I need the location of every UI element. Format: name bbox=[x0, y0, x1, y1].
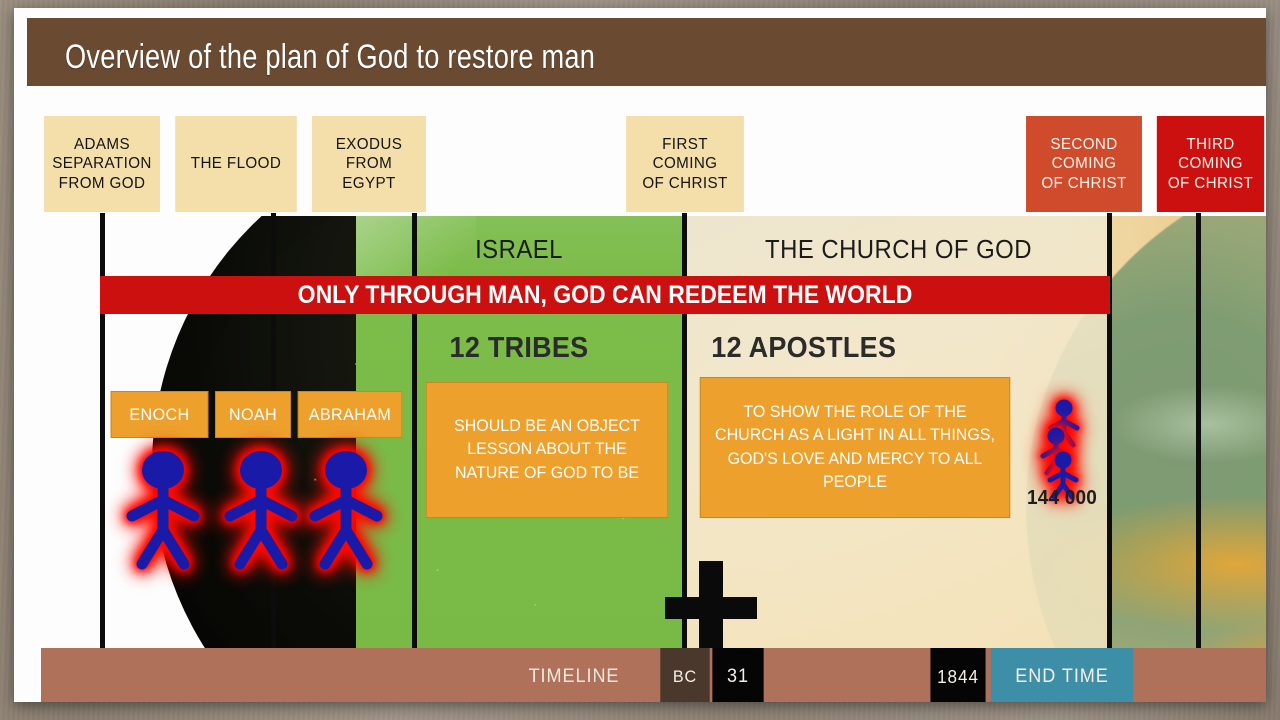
slide-canvas: Overview of the plan of God to restore m… bbox=[14, 8, 1266, 702]
era-header-israel: ISRAEL bbox=[369, 234, 669, 265]
event-sign-exodus-from-egypt[interactable]: EXODUS FROM EGYPT bbox=[312, 116, 426, 212]
slide-left-whitespace bbox=[14, 86, 44, 702]
sign-line: FROM bbox=[346, 154, 392, 173]
event-sign-second-coming[interactable]: SECOND COMING OF CHRIST bbox=[1026, 116, 1142, 212]
sign-line: THE FLOOD bbox=[191, 154, 281, 173]
sign-line: SECOND bbox=[1050, 135, 1117, 154]
sign-line: OF CHRIST bbox=[1041, 174, 1126, 193]
stick-figure-icon bbox=[220, 448, 302, 570]
sign-line: COMING bbox=[1052, 154, 1117, 173]
sign-line: OF CHRIST bbox=[642, 174, 727, 193]
sign-line: COMING bbox=[1178, 154, 1243, 173]
era-subtitle-12-apostles: 12 APOSTLES bbox=[711, 332, 1064, 365]
sign-line: EXODUS bbox=[336, 135, 402, 154]
page-title: Overview of the plan of God to restore m… bbox=[65, 38, 595, 77]
event-sign-adams-separation[interactable]: ADAMS SEPARATION FROM GOD bbox=[44, 116, 160, 212]
event-sign-third-coming[interactable]: THIRD COMING OF CHRIST bbox=[1157, 116, 1264, 212]
description-panel-apostles: TO SHOW THE ROLE OF THE CHURCH AS A LIGH… bbox=[700, 377, 1010, 518]
sign-line: FROM GOD bbox=[59, 174, 146, 193]
description-panel-tribes: SHOULD BE AN OBJECT LESSON ABOUT THE NAT… bbox=[426, 382, 669, 518]
sign-line: COMING bbox=[653, 154, 718, 173]
timeline-bar: TIMELINE BC 31 1844 END TIME bbox=[41, 648, 1266, 702]
patriarch-chip-enoch[interactable]: ENOCH bbox=[111, 391, 209, 438]
era-subtitle-12-tribes: 12 TRIBES bbox=[367, 332, 670, 365]
redemption-banner: ONLY THROUGH MAN, GOD CAN REDEEM THE WOR… bbox=[100, 276, 1110, 314]
sign-line: FIRST bbox=[662, 135, 708, 154]
era-header-church: THE CHURCH OF GOD bbox=[704, 234, 1093, 265]
sign-line: THIRD bbox=[1186, 135, 1234, 154]
event-sign-the-flood[interactable]: THE FLOOD bbox=[175, 116, 297, 212]
event-rule-third-coming bbox=[1196, 213, 1201, 702]
timeline-marker-end-time[interactable]: END TIME bbox=[991, 648, 1134, 702]
sign-line: OF CHRIST bbox=[1168, 174, 1253, 193]
sign-line: SEPARATION bbox=[52, 154, 152, 173]
cross-horizontal-beam bbox=[665, 597, 757, 619]
event-sign-first-coming[interactable]: FIRST COMING OF CHRIST bbox=[626, 116, 744, 212]
timeline-marker-bc[interactable]: BC bbox=[660, 648, 709, 702]
sign-line: EGYPT bbox=[342, 174, 395, 193]
patriarch-chip-abraham[interactable]: ABRAHAM bbox=[298, 391, 403, 438]
title-bar: Overview of the plan of God to restore m… bbox=[27, 18, 1266, 86]
sealed-count-label: 144 000 bbox=[1016, 487, 1107, 510]
timeline-label: TIMELINE bbox=[493, 648, 655, 702]
redemption-banner-text: ONLY THROUGH MAN, GOD CAN REDEEM THE WOR… bbox=[140, 276, 1069, 314]
timeline-marker-year-1844[interactable]: 1844 bbox=[930, 648, 985, 702]
stick-figure-icon bbox=[305, 448, 387, 570]
sign-line: ADAMS bbox=[74, 135, 130, 154]
stick-figure-icon bbox=[122, 448, 204, 570]
timeline-marker-year-31[interactable]: 31 bbox=[712, 648, 763, 702]
patriarch-chip-noah[interactable]: NOAH bbox=[215, 391, 291, 438]
